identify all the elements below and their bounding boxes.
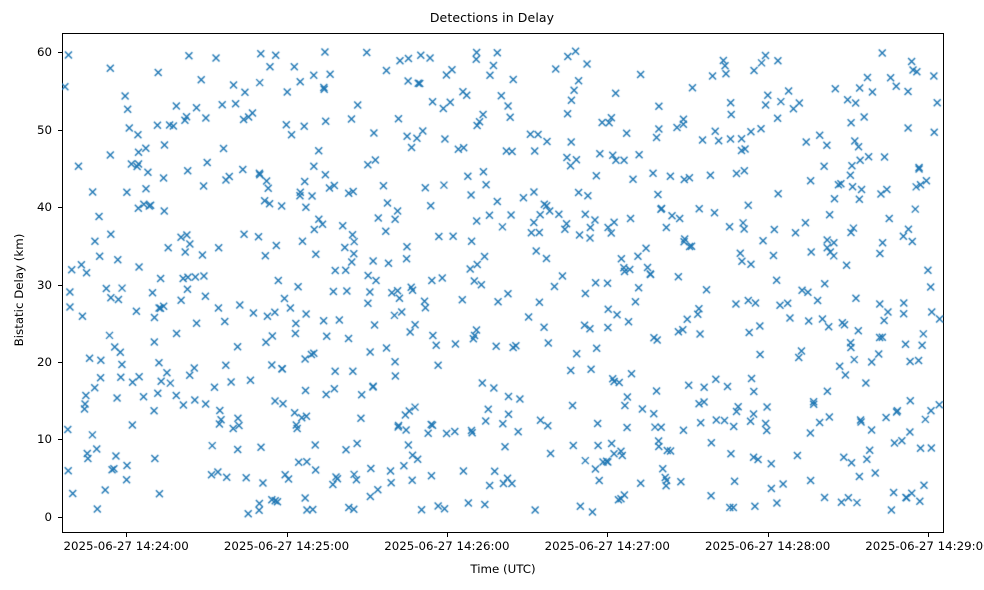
x-tick-label: 2025-06-27 14:25:00 — [224, 539, 349, 553]
x-tick-label: 2025-06-27 14:24:00 — [63, 539, 188, 553]
y-tick-label: 40 — [0, 200, 52, 214]
y-tick-mark — [58, 207, 62, 208]
y-tick-mark — [58, 52, 62, 53]
x-tick-label: 2025-06-27 14:26:00 — [384, 539, 509, 553]
x-axis-label: Time (UTC) — [62, 562, 944, 576]
x-tick-mark — [768, 533, 769, 537]
matplotlib-figure: Detections in Delay 2025-06-27 14:24:002… — [0, 0, 984, 590]
y-tick-label: 0 — [0, 510, 52, 524]
page-title: Detections in Delay — [0, 10, 984, 25]
y-tick-label: 30 — [0, 278, 52, 292]
x-tick-label: 2025-06-27 14:27:00 — [545, 539, 670, 553]
y-tick-mark — [58, 362, 62, 363]
y-tick-label: 50 — [0, 123, 52, 137]
y-tick-mark — [58, 439, 62, 440]
y-tick-label: 20 — [0, 355, 52, 369]
x-tick-mark — [447, 533, 448, 537]
x-tick-mark — [607, 533, 608, 537]
y-tick-mark — [58, 130, 62, 131]
x-tick-label: 2025-06-27 14:28:00 — [705, 539, 830, 553]
scatter-plot-canvas — [62, 33, 944, 533]
y-tick-label: 10 — [0, 432, 52, 446]
y-tick-mark — [58, 517, 62, 518]
y-tick-label: 60 — [0, 45, 52, 59]
x-tick-mark — [287, 533, 288, 537]
x-tick-mark — [928, 533, 929, 537]
x-tick-label: 2025-06-27 14:29:00 — [865, 539, 984, 553]
y-axis-label: Bistatic Delay (km) — [12, 140, 26, 440]
y-tick-mark — [58, 285, 62, 286]
x-tick-mark — [126, 533, 127, 537]
